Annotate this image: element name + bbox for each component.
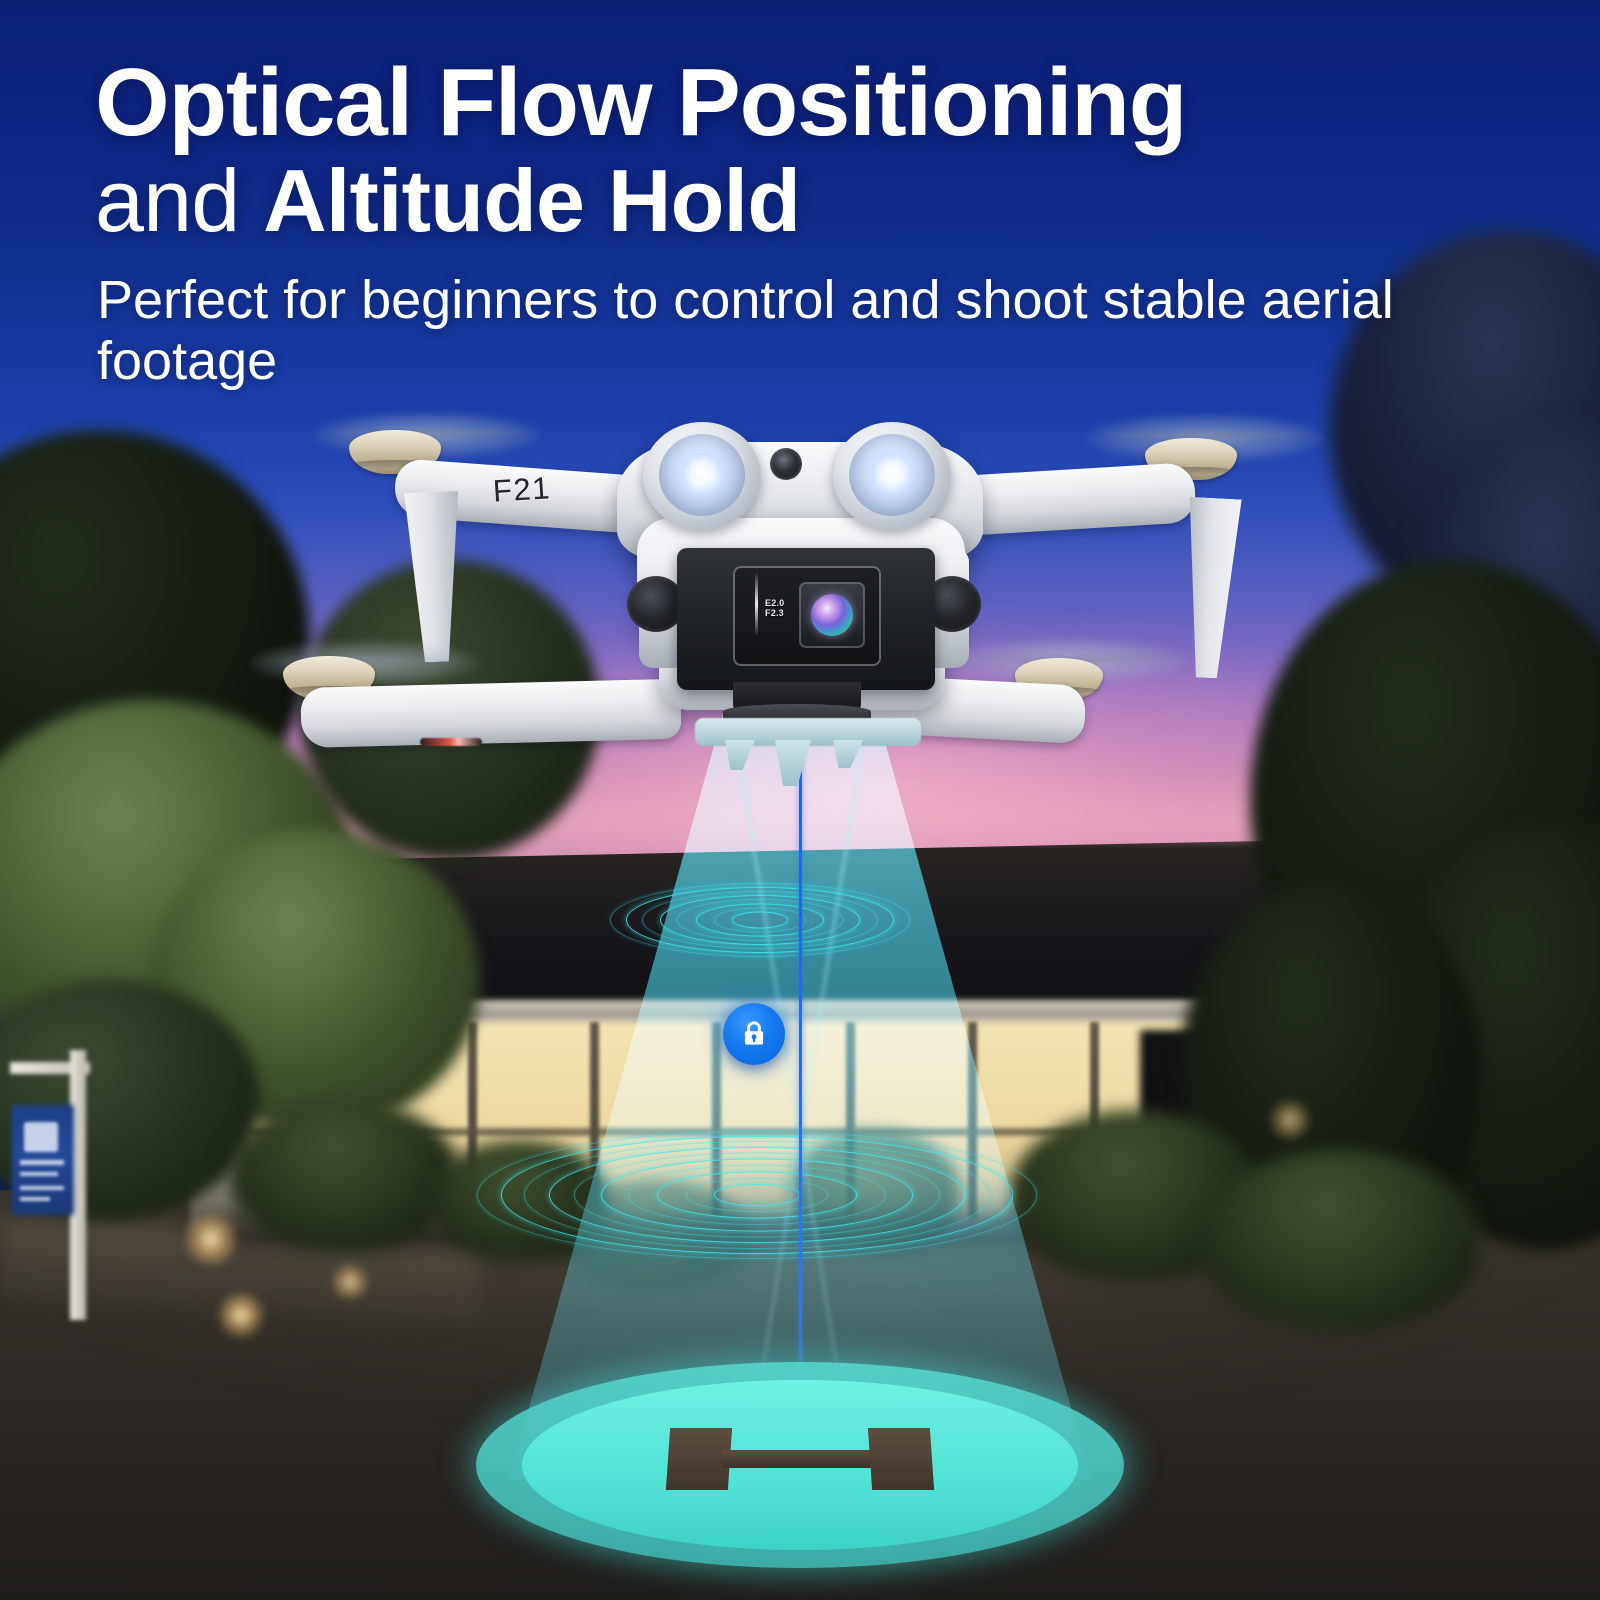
promo-graphic: F21 bbox=[0, 0, 1600, 1600]
shrub bbox=[230, 1100, 460, 1250]
sign-text-line bbox=[20, 1172, 58, 1176]
headline-block: Optical Flow Positioning and Altitude Ho… bbox=[95, 56, 1495, 244]
garden-light bbox=[1268, 1098, 1312, 1142]
drone-f21: F21 bbox=[255, 400, 1345, 780]
ripple-ring bbox=[732, 912, 788, 929]
landing-leg-rear-right bbox=[1180, 497, 1241, 679]
sign-text-line bbox=[20, 1186, 64, 1190]
garden-light bbox=[216, 1290, 266, 1340]
sensor-fin bbox=[833, 740, 863, 768]
headline-line-1: Optical Flow Positioning bbox=[95, 56, 1495, 150]
helipad-h-crossbar bbox=[722, 1450, 880, 1468]
drone-model-label: F21 bbox=[492, 470, 552, 510]
arm-front-left bbox=[300, 679, 681, 748]
helipad-h-marking bbox=[668, 1428, 932, 1490]
subheadline: Perfect for beginners to control and sho… bbox=[97, 270, 1437, 392]
garden-light bbox=[182, 1210, 240, 1268]
altitude-hold-lock-badge bbox=[723, 1003, 785, 1065]
lock-icon bbox=[737, 1017, 771, 1051]
led-indicator-red bbox=[420, 738, 482, 746]
sensor-fin bbox=[725, 740, 755, 770]
sign-text-line bbox=[20, 1197, 50, 1201]
sensor-fin bbox=[775, 740, 811, 786]
headline-line-2-light: and bbox=[95, 151, 263, 250]
front-obstacle-sensor bbox=[770, 448, 802, 480]
shrub bbox=[1200, 1150, 1480, 1330]
camera-highlight-strip bbox=[755, 572, 758, 636]
altitude-plumb-line bbox=[799, 688, 802, 1448]
headline-line-2-bold: Altitude Hold bbox=[263, 151, 800, 250]
ripple-ring bbox=[714, 1184, 800, 1206]
camera-spec-line-1: E2.0 bbox=[765, 598, 784, 608]
sign-text-line bbox=[20, 1160, 64, 1165]
headlight-right bbox=[869, 452, 915, 496]
helipad-h-bar-right bbox=[868, 1428, 934, 1490]
headline-line-2: and Altitude Hold bbox=[95, 158, 1495, 244]
landing-leg-rear-left bbox=[404, 491, 464, 663]
camera-spec-line-2: F2.3 bbox=[765, 608, 784, 618]
headlight-left bbox=[679, 452, 725, 496]
garden-light bbox=[330, 1262, 370, 1302]
sign-logo-mark bbox=[24, 1122, 58, 1152]
camera-lens bbox=[811, 594, 853, 636]
